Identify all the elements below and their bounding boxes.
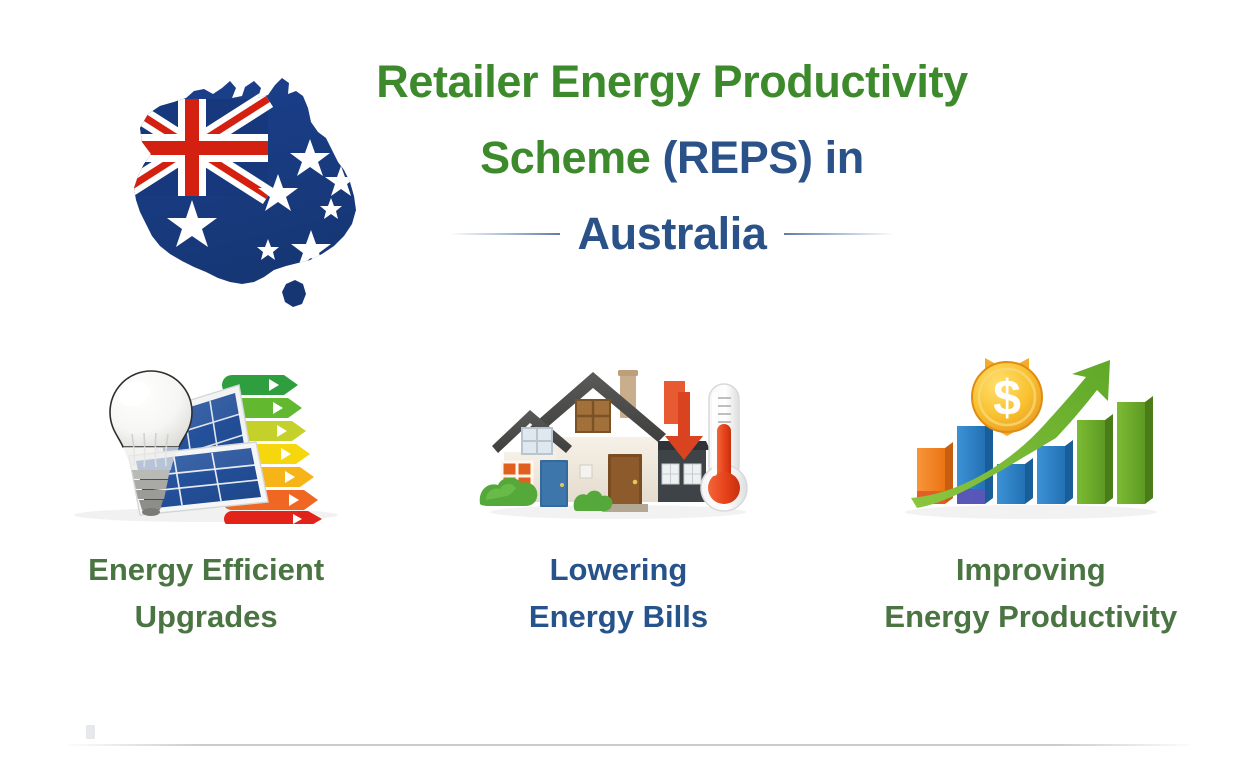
feature-caption-improving-energy-productivity: Improving Energy Productivity bbox=[884, 546, 1177, 640]
feature-caption-lowering-energy-bills: Lowering Energy Bills bbox=[529, 546, 708, 640]
australia-silhouette bbox=[82, 58, 372, 313]
page-title-line-2-green: Scheme bbox=[480, 132, 662, 183]
lightbulb-solar-panel-energy-rating-icon bbox=[56, 352, 356, 524]
feature-lowering-energy-bills: Lowering Energy Bills bbox=[412, 352, 824, 652]
house-thermometer-down-arrow-icon bbox=[468, 352, 768, 524]
features-row: Energy Efficient Upgrades bbox=[0, 352, 1237, 652]
page-title-line-3-text: Australia bbox=[578, 196, 767, 272]
footer-mark bbox=[86, 725, 95, 739]
page-title-line-2: Scheme (REPS) in bbox=[372, 120, 972, 196]
feature-caption-energy-efficient-upgrades: Energy Efficient Upgrades bbox=[88, 546, 324, 640]
title-block: Retailer Energy Productivity Scheme (REP… bbox=[372, 44, 972, 272]
page-title-line-3: Australia bbox=[372, 196, 972, 272]
page-title-line-1: Retailer Energy Productivity bbox=[372, 44, 972, 120]
footer-divider bbox=[68, 744, 1190, 746]
title-rule-left bbox=[452, 233, 560, 235]
title-rule-right bbox=[784, 233, 892, 235]
energy-rating-arrow-g bbox=[224, 511, 322, 524]
chart-bar-6 bbox=[1117, 396, 1153, 504]
union-jack-icon bbox=[116, 99, 268, 196]
coin-dollar-symbol: $ bbox=[993, 370, 1021, 426]
chart-bar-4 bbox=[1037, 440, 1073, 504]
header: Retailer Energy Productivity Scheme (REP… bbox=[0, 44, 1237, 324]
bar-chart-coin-up-arrow-icon: $ bbox=[881, 352, 1181, 524]
dollar-coin-icon: $ bbox=[972, 358, 1042, 436]
feature-energy-efficient-upgrades: Energy Efficient Upgrades bbox=[0, 352, 412, 652]
page-title-line-2-blue: (REPS) in bbox=[662, 132, 863, 183]
australia-flag-map-icon bbox=[82, 58, 372, 313]
feature-improving-energy-productivity: $ Improving Energy Productivity bbox=[825, 352, 1237, 652]
infographic-poster: Retailer Energy Productivity Scheme (REP… bbox=[0, 0, 1237, 767]
chart-bar-5 bbox=[1077, 414, 1113, 504]
